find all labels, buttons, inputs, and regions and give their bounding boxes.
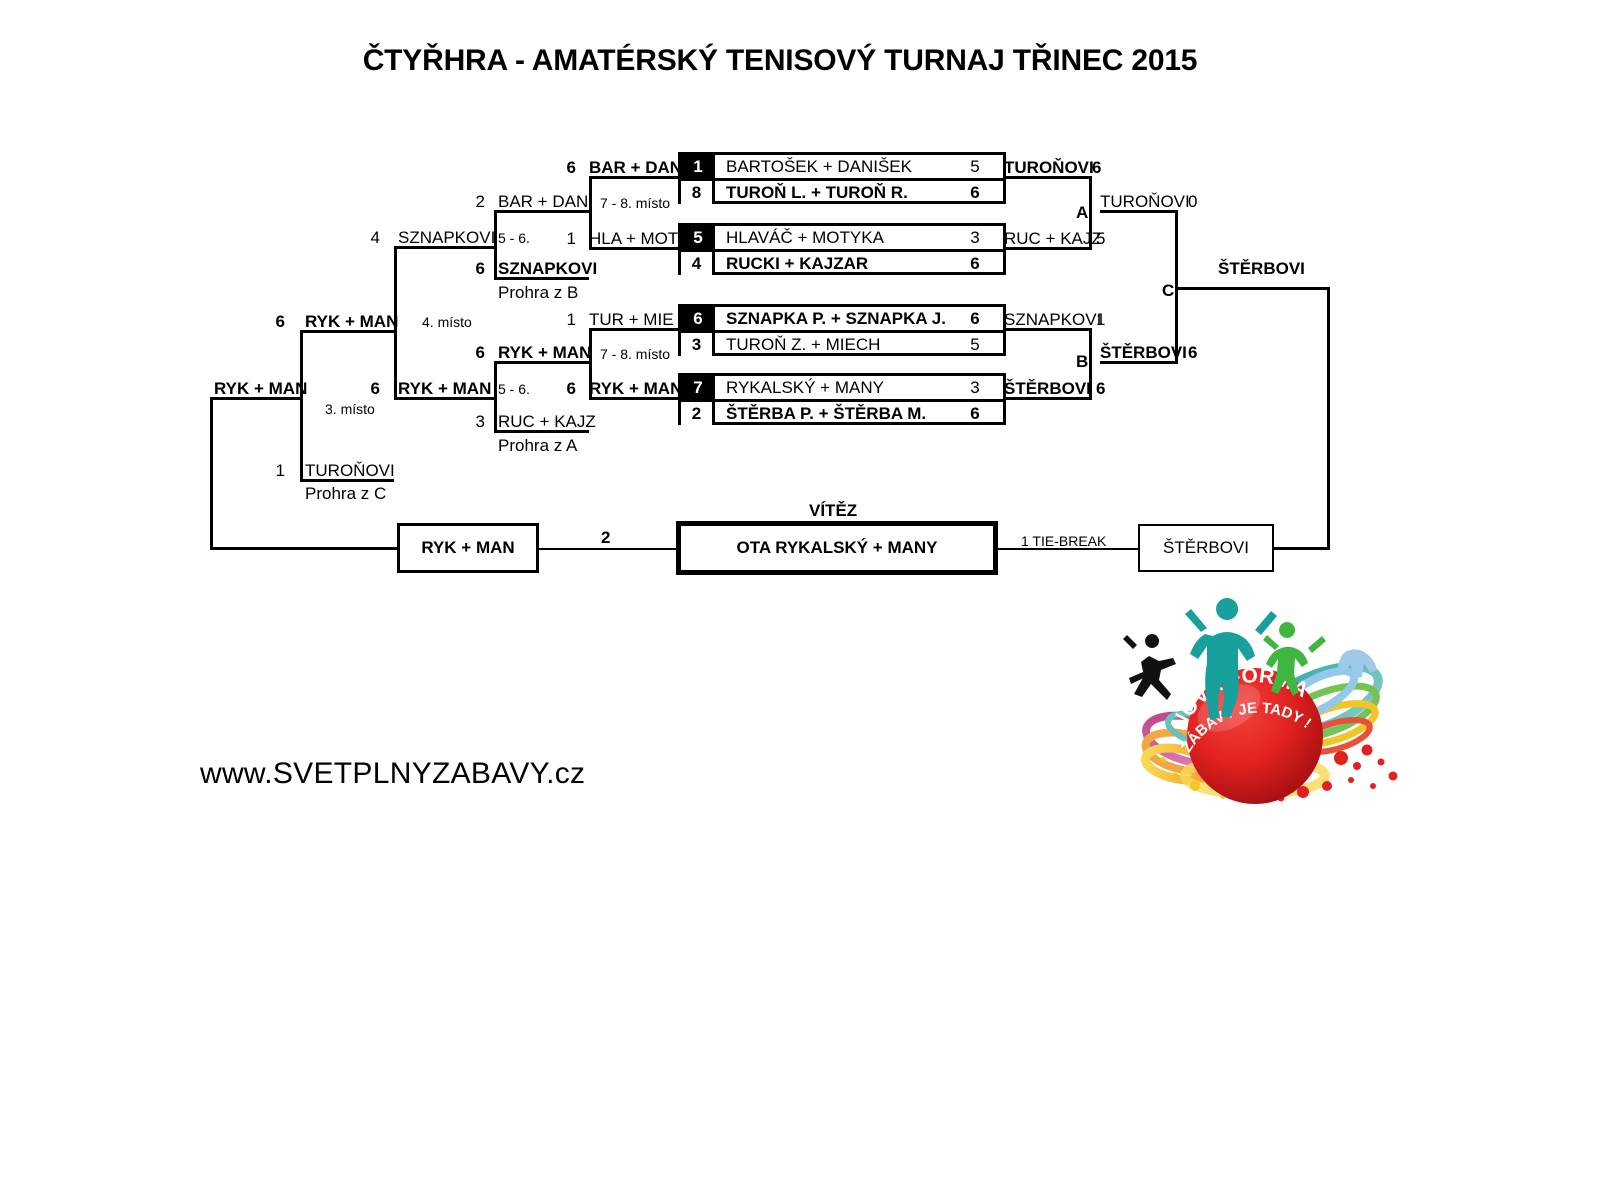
qf2-left-score: 1 xyxy=(540,229,576,249)
qf1-winner-score: 6 xyxy=(1092,158,1101,178)
qf3-left-score: 1 xyxy=(540,310,576,330)
seed-number: 6 xyxy=(681,307,715,330)
connector-line xyxy=(589,176,678,179)
loser-from-b-label: Prohra z B xyxy=(498,283,578,303)
seed-number: 5 xyxy=(681,226,715,249)
qf3-winner-score: 1 xyxy=(1096,310,1105,330)
qf2-winner-score: 5 xyxy=(1096,229,1105,249)
qf4-left-score: 6 xyxy=(540,379,576,399)
connector-line xyxy=(589,328,592,400)
loser-from-a-label: Prohra z A xyxy=(498,436,577,456)
place-4-label: 4. místo xyxy=(422,312,472,332)
match-row-player-bottom: 2 ŠTĚRBA P. + ŠTĚRBA M. 6 xyxy=(681,402,1003,425)
team-score: 3 xyxy=(953,378,1003,398)
connector-line xyxy=(1089,176,1092,250)
connector-line xyxy=(300,479,394,482)
final-left-box[interactable]: RYK + MAN xyxy=(397,523,539,573)
match-box-qf2[interactable]: 5 HLAVÁČ + MOTYKA 3 4 RUCKI + KAJZAR 6 xyxy=(678,223,1006,275)
ryk-man-56-score: 6 xyxy=(455,343,485,363)
seed-number: 4 xyxy=(681,252,715,275)
connector-line xyxy=(210,547,400,550)
winner-caption: VÍTĚZ xyxy=(809,501,857,521)
connector-line xyxy=(1327,287,1330,549)
final-left-score: 2 xyxy=(601,528,610,548)
bar-dan-upper-score: 2 xyxy=(455,192,485,212)
match-row-player-top: 6 SZNAPKA P. + SZNAPKA J. 6 xyxy=(681,307,1003,333)
team-score: 6 xyxy=(953,254,1003,274)
qf1-left-score: 6 xyxy=(540,158,576,178)
connector-line xyxy=(1004,176,1092,179)
qf1-winner-label: TUROŇOVI xyxy=(1004,158,1094,178)
connector-line xyxy=(494,430,589,433)
website-url[interactable]: www.SVETPLNYZABAVY.cz xyxy=(200,757,585,791)
ryk-man-far-left-label: RYK + MAN xyxy=(214,379,307,399)
connector-line xyxy=(300,330,303,482)
ruc-kajz-score: 3 xyxy=(455,412,485,432)
turonovi-c-score: 1 xyxy=(255,461,285,481)
connector-line xyxy=(1100,361,1178,364)
place-7-8-label-upper: 7 - 8. místo xyxy=(600,193,670,213)
sznapkovi-56-score: 6 xyxy=(455,259,485,279)
team-name: TUROŇ L. + TUROŇ R. xyxy=(715,183,953,203)
seed-number: 2 xyxy=(681,402,715,425)
connector-line xyxy=(394,397,494,400)
place-7-8-label-lower: 7 - 8. místo xyxy=(600,344,670,364)
connector-line xyxy=(539,548,679,550)
match-row-player-bottom: 4 RUCKI + KAJZAR 6 xyxy=(681,252,1003,275)
match-row-player-bottom: 3 TUROŇ Z. + MIECH 5 xyxy=(681,333,1003,356)
qf4-winner-score: 6 xyxy=(1096,379,1105,399)
ryk-man-mid-name: RYK + MAN xyxy=(398,379,491,399)
semifinal-b-winner: ŠTĚRBOVI xyxy=(1100,343,1187,363)
connector-line xyxy=(589,176,592,250)
final-winner-label: ŠTĚRBOVI xyxy=(1218,259,1305,279)
connector-line xyxy=(300,330,394,333)
connector-line xyxy=(1004,247,1092,250)
match-box-qf4[interactable]: 7 RYKALSKÝ + MANY 3 2 ŠTĚRBA P. + ŠTĚRBA… xyxy=(678,373,1006,425)
connector-line xyxy=(494,210,589,213)
connector-line xyxy=(589,247,678,250)
sznapkovi-left-score: 4 xyxy=(350,228,380,248)
team-score: 6 xyxy=(953,309,1003,329)
final-right-box[interactable]: ŠTĚRBOVI xyxy=(1138,524,1274,572)
place-5-6-label-lower: 5 - 6. xyxy=(498,379,530,399)
match-row-player-top: 7 RYKALSKÝ + MANY 3 xyxy=(681,376,1003,402)
ryk-man-mid-score: 6 xyxy=(350,379,380,399)
team-name: TUROŇ Z. + MIECH xyxy=(715,335,953,355)
seed-number: 8 xyxy=(681,181,715,204)
semifinal-b-score: 6 xyxy=(1188,343,1197,363)
sznapkovi-56-name: SZNAPKOVI xyxy=(498,259,597,279)
seed-number: 1 xyxy=(681,155,715,178)
tournament-winner-box[interactable]: OTA RYKALSKÝ + MANY xyxy=(676,521,998,575)
qf3-winner-label: SZNAPKOVI xyxy=(1004,310,1101,330)
connector-line xyxy=(210,397,213,549)
connector-line xyxy=(494,277,589,280)
final-right-score: 1 TIE-BREAK xyxy=(1021,531,1106,551)
semifinal-a-winner: TUROŇOVI xyxy=(1100,192,1190,212)
team-name: BARTOŠEK + DANIŠEK xyxy=(715,157,953,177)
connector-line xyxy=(494,361,497,433)
match-row-player-top: 1 BARTOŠEK + DANIŠEK 5 xyxy=(681,155,1003,181)
semifinal-a-score: 0 xyxy=(1188,192,1197,212)
team-score: 5 xyxy=(953,157,1003,177)
page-title: ČTYŘHRA - AMATÉRSKÝ TENISOVÝ TURNAJ TŘIN… xyxy=(0,44,1560,78)
team-name: RUCKI + KAJZAR xyxy=(715,254,953,274)
qf1-left-name: BAR + DAN xyxy=(589,158,682,178)
place-3-label: 3. místo xyxy=(325,399,375,419)
seed-number: 7 xyxy=(681,376,715,399)
team-name: RYKALSKÝ + MANY xyxy=(715,378,953,398)
connector-line xyxy=(589,397,678,400)
connector-line xyxy=(1089,328,1092,400)
connector-line xyxy=(1178,287,1330,290)
ruc-kajz-name: RUC + KAJZ xyxy=(498,412,596,432)
team-score: 6 xyxy=(953,404,1003,424)
connector-line xyxy=(1273,547,1330,550)
ryk-man-left-name: RYK + MAN xyxy=(305,312,398,332)
place-5-6-label-upper: 5 - 6. xyxy=(498,228,530,248)
match-box-qf1[interactable]: 1 BARTOŠEK + DANIŠEK 5 8 TUROŇ L. + TURO… xyxy=(678,152,1006,204)
seed-number: 3 xyxy=(681,333,715,356)
semifinal-marker-b: B xyxy=(1076,352,1088,372)
connector-line xyxy=(394,246,494,249)
connector-line xyxy=(210,397,302,400)
team-score: 6 xyxy=(953,183,1003,203)
qf2-winner-label: RUC + KAJZ xyxy=(1004,229,1102,249)
sznapkovi-left-name: SZNAPKOVI xyxy=(398,228,495,248)
qf4-winner-label: ŠTĚRBOVI xyxy=(1004,379,1091,399)
turonovi-c-name: TUROŇOVI xyxy=(305,461,395,481)
qf4-left-name: RYK + MAN xyxy=(589,379,682,399)
connector-line xyxy=(1100,210,1178,213)
qf2-left-name: HLA + MOT xyxy=(589,229,678,249)
connector-line xyxy=(494,361,589,364)
team-name: ŠTĚRBA P. + ŠTĚRBA M. xyxy=(715,404,953,424)
ryk-man-left-score: 6 xyxy=(255,312,285,332)
ryk-man-56-name: RYK + MAN xyxy=(498,343,591,363)
match-row-player-top: 5 HLAVÁČ + MOTYKA 3 xyxy=(681,226,1003,252)
connector-line xyxy=(1004,328,1092,331)
qf3-left-name: TUR + MIE xyxy=(589,310,674,330)
team-name: HLAVÁČ + MOTYKA xyxy=(715,228,953,248)
team-score: 5 xyxy=(953,335,1003,355)
runner-silhouette-black xyxy=(1134,634,1176,700)
bracket-canvas: ČTYŘHRA - AMATÉRSKÝ TENISOVÝ TURNAJ TŘIN… xyxy=(0,0,1600,1200)
match-row-player-bottom: 8 TUROŇ L. + TUROŇ R. 6 xyxy=(681,181,1003,204)
bar-dan-upper-name: BAR + DAN xyxy=(498,192,588,212)
svet-plny-zabavy-logo: NOVÁ FORMA ZÁBAVY JE TADY ! xyxy=(1105,590,1405,810)
team-score: 3 xyxy=(953,228,1003,248)
connector-line xyxy=(589,328,678,331)
semifinal-marker-a: A xyxy=(1076,203,1088,223)
connector-line xyxy=(1004,397,1092,400)
final-marker-c: C xyxy=(1162,281,1174,301)
loser-from-c-label: Prohra z C xyxy=(305,484,386,504)
match-box-qf3[interactable]: 6 SZNAPKA P. + SZNAPKA J. 6 3 TUROŇ Z. +… xyxy=(678,304,1006,356)
team-name: SZNAPKA P. + SZNAPKA J. xyxy=(715,309,953,329)
